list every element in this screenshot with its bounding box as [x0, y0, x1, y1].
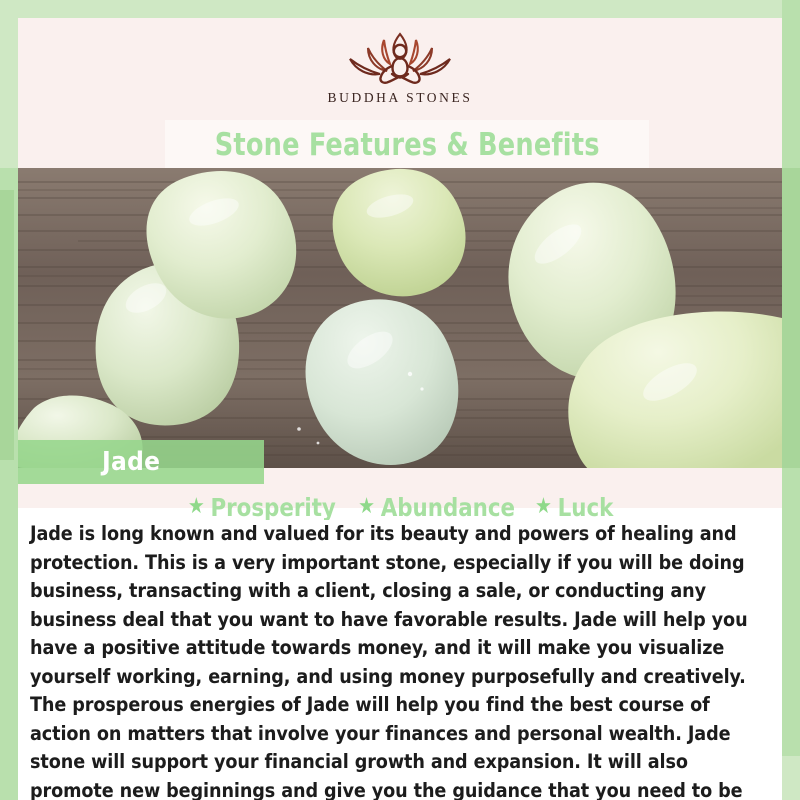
stone-description: Jade is long known and valued for its be… — [18, 520, 782, 800]
benefit-label: Prosperity — [211, 493, 336, 522]
benefit-item: ★ Abundance — [358, 493, 515, 522]
brand-header: BUDDHA STONES — [18, 18, 782, 118]
benefits-row: ★ Prosperity ★ Abundance ★ Luck — [18, 490, 782, 524]
infographic-page: BUDDHA STONES Stone Features & Benefits — [0, 0, 800, 800]
lotus-meditation-icon — [340, 26, 460, 88]
benefit-item: ★ Luck — [535, 493, 613, 522]
stone-name-band: Jade — [18, 440, 264, 484]
star-icon: ★ — [535, 496, 552, 518]
title-banner: Stone Features & Benefits — [165, 120, 649, 170]
star-icon: ★ — [188, 496, 205, 518]
brand-name: BUDDHA STONES — [328, 90, 473, 106]
stone-photo — [18, 168, 782, 468]
benefit-label: Luck — [558, 493, 614, 522]
stone-name-label: Jade — [102, 447, 160, 477]
decorative-left-accent — [0, 190, 14, 460]
content-canvas: BUDDHA STONES Stone Features & Benefits — [18, 18, 782, 782]
stone-photo-graphic — [18, 168, 782, 468]
benefit-label: Abundance — [381, 493, 515, 522]
page-title: Stone Features & Benefits — [215, 127, 600, 163]
star-icon: ★ — [358, 496, 375, 518]
benefit-item: ★ Prosperity — [188, 493, 336, 522]
decorative-top-band — [0, 0, 800, 18]
